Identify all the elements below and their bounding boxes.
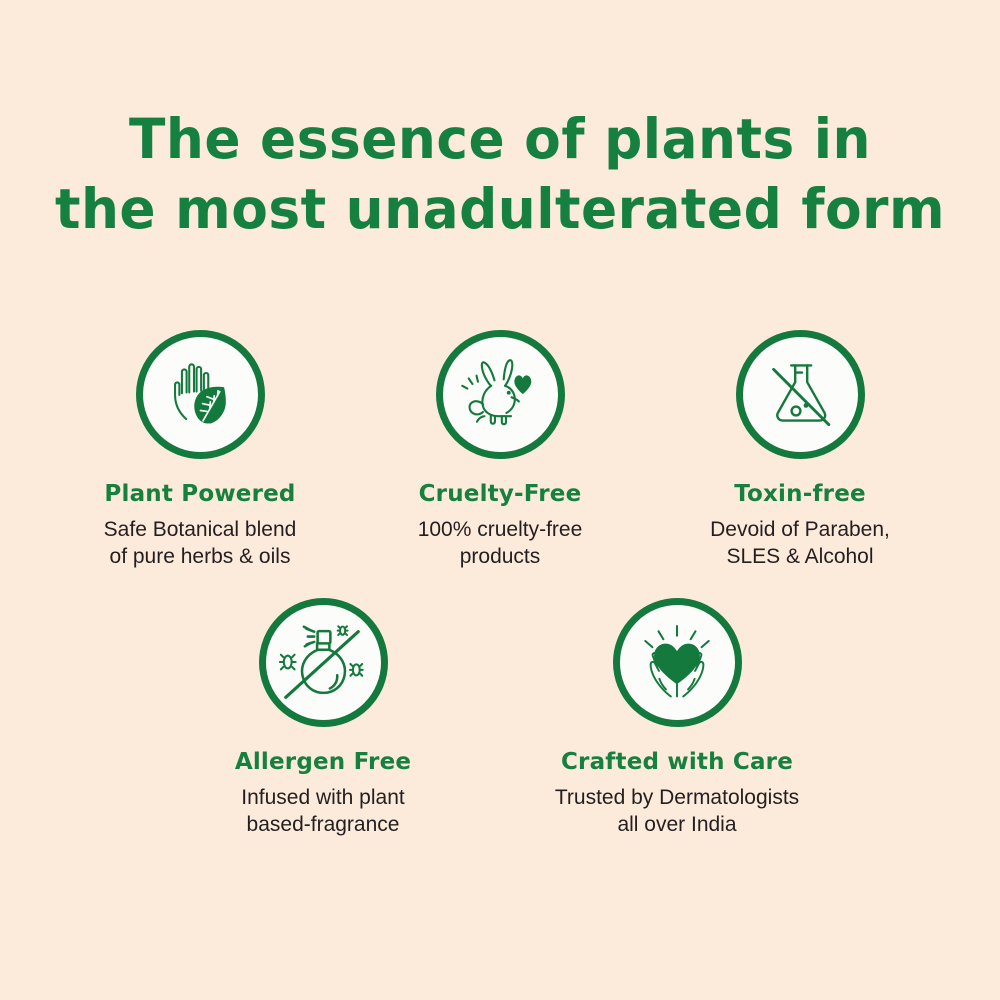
feature-icon-badge	[259, 598, 388, 727]
feature-description-line-1: 100% cruelty-free	[418, 516, 583, 543]
no-chemical-flask-icon	[760, 355, 840, 435]
feature-description: 100% cruelty-free products	[418, 516, 583, 570]
feature-title: Toxin-free	[734, 481, 866, 507]
feature-title: Plant Powered	[104, 481, 295, 507]
promo-banner: The essence of plants in the most unadul…	[0, 0, 1000, 1000]
feature-title: Allergen Free	[235, 749, 411, 775]
feature-title: Cruelty-Free	[419, 481, 582, 507]
feature-description-line-1: Trusted by Dermatologists	[555, 784, 799, 811]
headline-line-2: the most unadulterated form	[15, 174, 985, 244]
feature-title: Crafted with Care	[561, 749, 793, 775]
feature-description-line-1: Safe Botanical blend	[104, 516, 297, 543]
feature-icon-badge	[613, 598, 742, 727]
feature-icon-badge	[136, 330, 265, 459]
slash-line	[774, 369, 829, 424]
feature-description: Infused with plant based-fragrance	[241, 784, 404, 838]
feature-grid: Plant Powered Safe Botanical blend of pu…	[0, 330, 1000, 838]
feature-description-line-2: based-fragrance	[241, 811, 404, 838]
feature-allergen-free: Allergen Free Infused with plant based-f…	[146, 598, 500, 838]
feature-description-line-2: of pure herbs & oils	[104, 543, 297, 570]
flask-bubble-large	[792, 406, 801, 415]
feature-description-line-2: products	[418, 543, 583, 570]
feature-cruelty-free: Cruelty-Free 100% cruelty-free products	[350, 330, 650, 570]
slash-line	[286, 631, 359, 697]
no-perfume-allergen-icon	[274, 614, 372, 712]
feature-row-2: Allergen Free Infused with plant based-f…	[0, 598, 1000, 838]
feature-icon-badge	[736, 330, 865, 459]
feature-plant-powered: Plant Powered Safe Botanical blend of pu…	[50, 330, 350, 570]
rabbit-eye	[507, 390, 511, 394]
allergen-mite-right	[350, 663, 363, 675]
allergen-mite-top	[338, 626, 348, 635]
feature-row-1: Plant Powered Safe Botanical blend of pu…	[0, 330, 1000, 570]
hands-holding-heart-icon	[633, 619, 721, 707]
feature-description: Trusted by Dermatologists all over India	[555, 784, 799, 838]
feature-icon-badge	[436, 330, 565, 459]
hand-holding-leaf-icon	[157, 352, 243, 438]
headline-line-1: The essence of plants in	[15, 104, 985, 174]
allergen-mite-left	[280, 654, 296, 669]
feature-description-line-2: SLES & Alcohol	[710, 543, 890, 570]
rabbit-with-heart-icon	[454, 349, 546, 441]
feature-crafted-with-care: Crafted with Care Trusted by Dermatologi…	[500, 598, 854, 838]
feature-description-line-1: Devoid of Paraben,	[710, 516, 890, 543]
feature-description-line-2: all over India	[555, 811, 799, 838]
feature-toxin-free: Toxin-free Devoid of Paraben, SLES & Alc…	[650, 330, 950, 570]
feature-description: Devoid of Paraben, SLES & Alcohol	[710, 516, 890, 570]
feature-description: Safe Botanical blend of pure herbs & oil…	[104, 516, 297, 570]
page-title: The essence of plants in the most unadul…	[15, 104, 985, 244]
heart-shape	[514, 375, 531, 394]
feature-description-line-1: Infused with plant	[241, 784, 404, 811]
